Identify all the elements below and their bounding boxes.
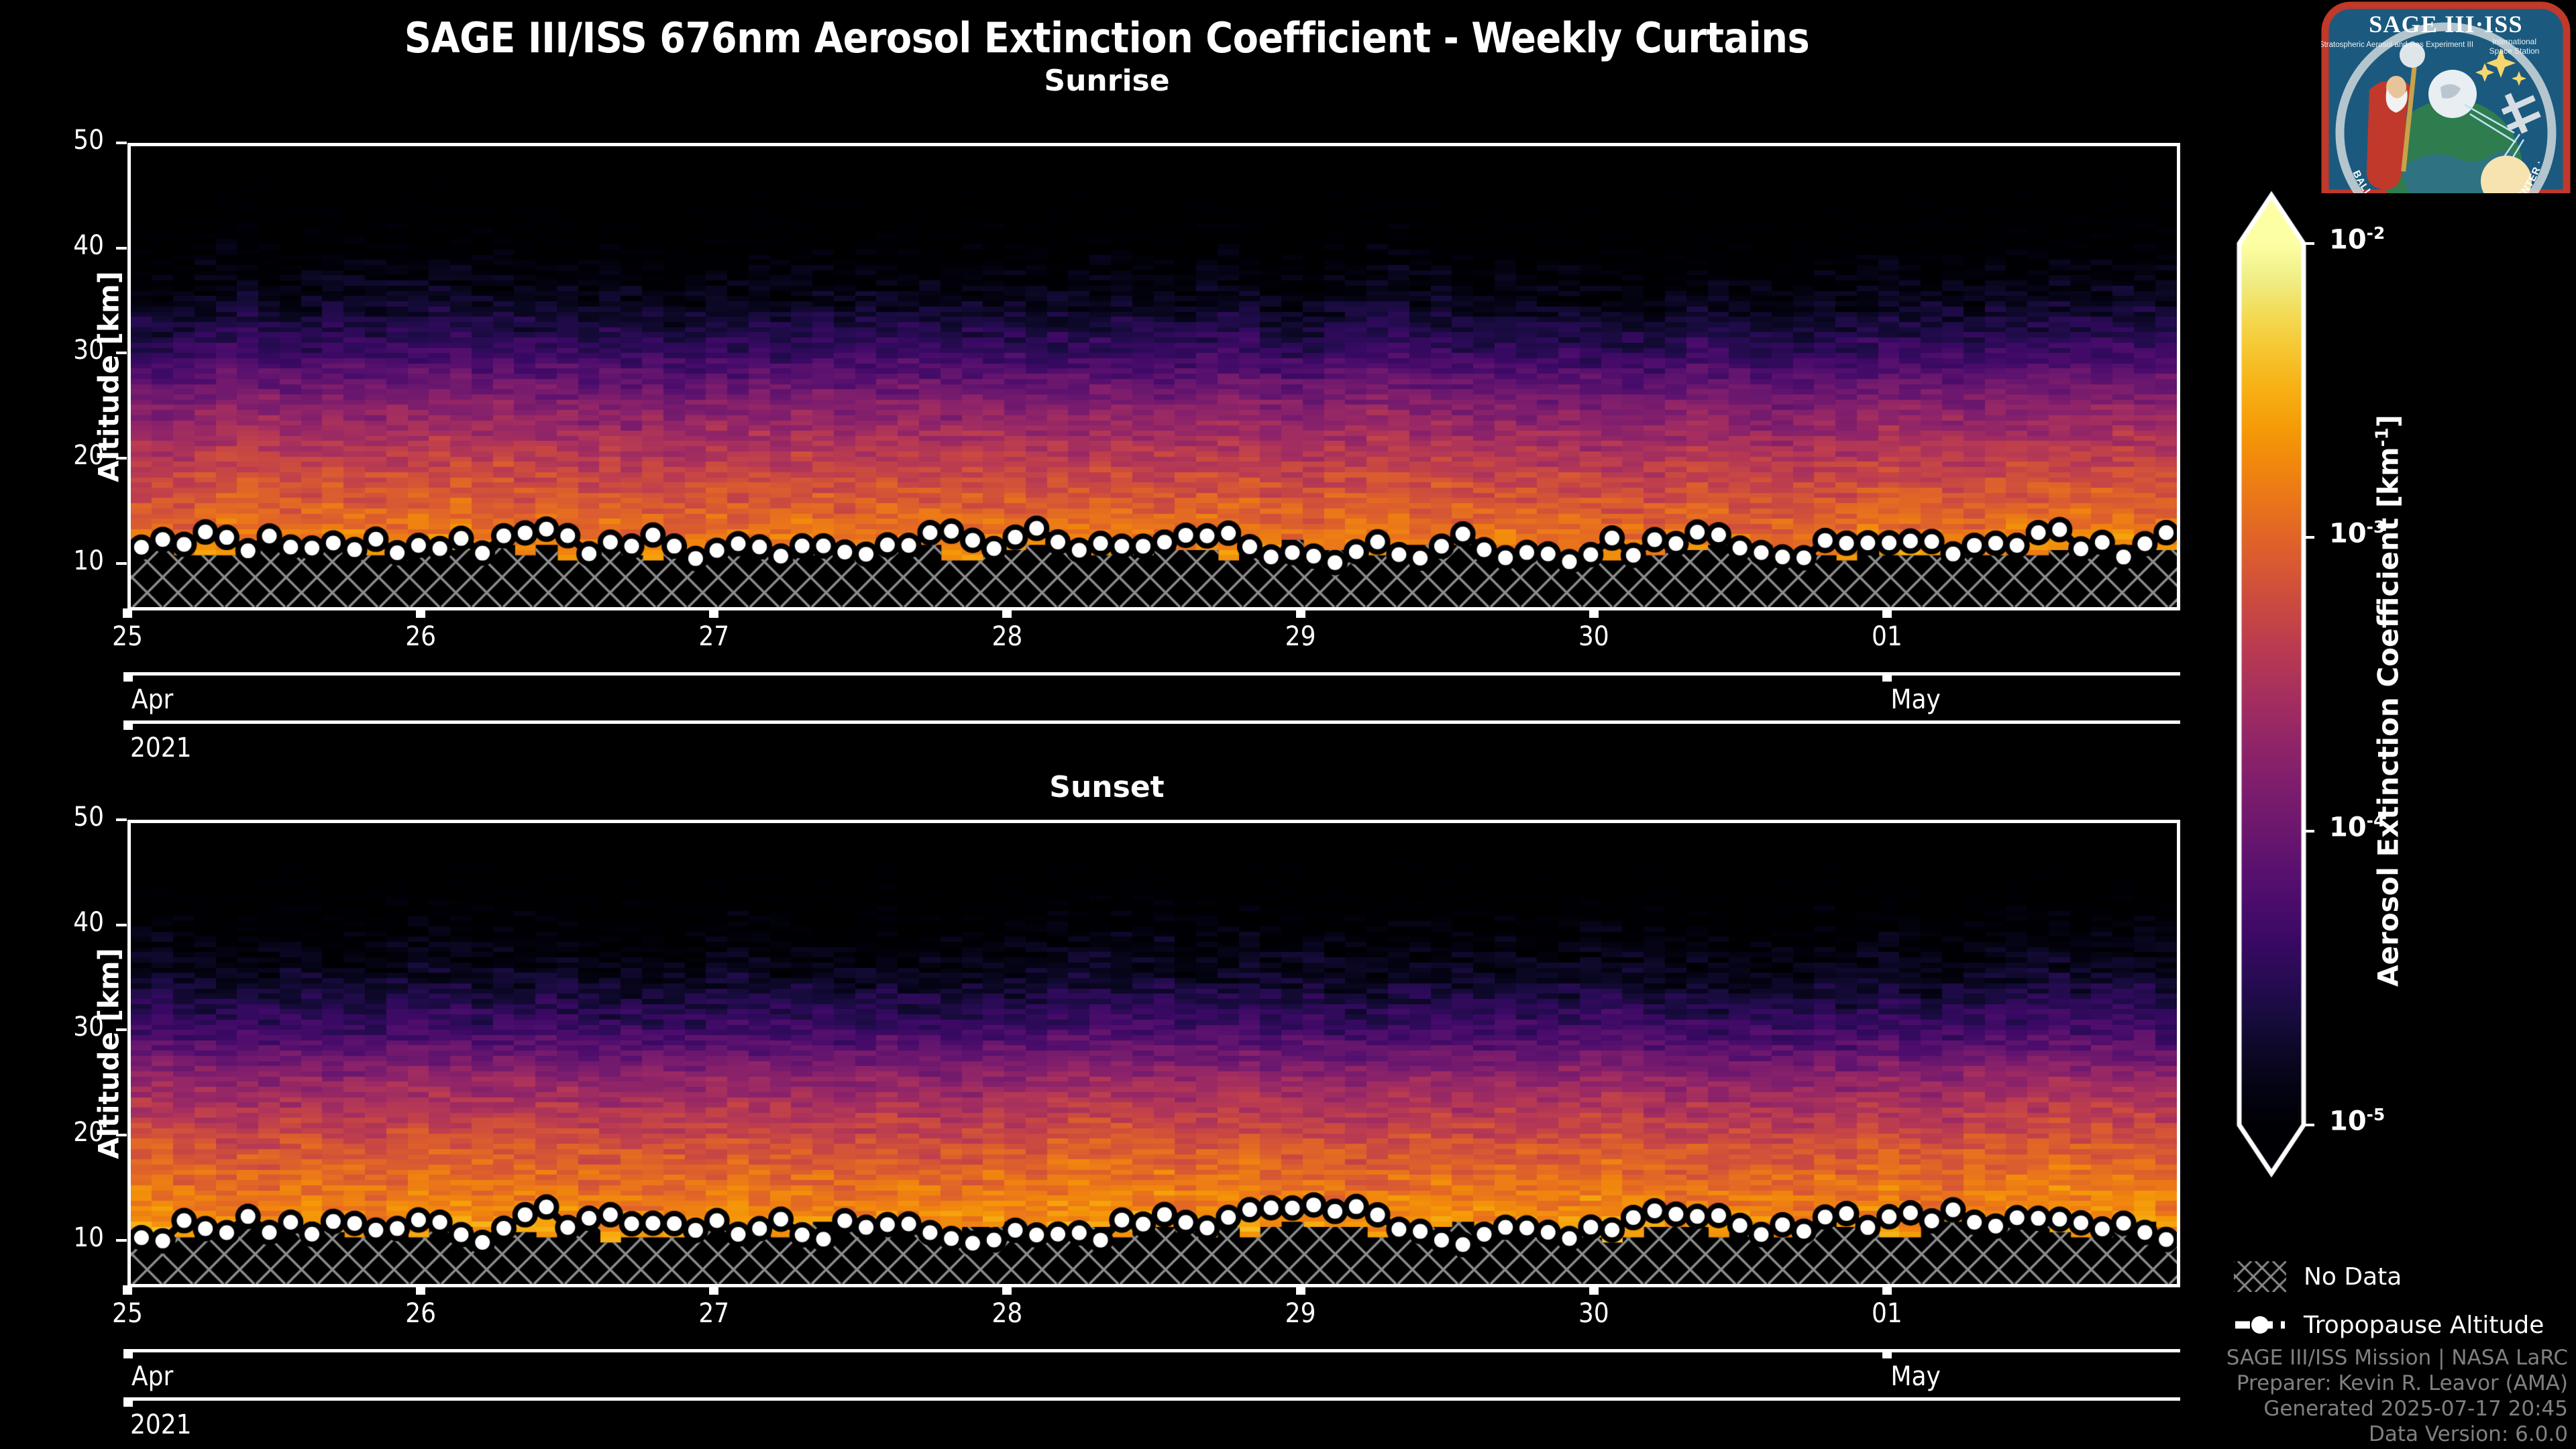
x-axis-year-band-line [127, 1397, 2180, 1401]
x-axis-month-label: May [1890, 684, 1940, 715]
x-axis-month-band-line [127, 1349, 2180, 1352]
month-band-tick [1882, 1349, 1892, 1358]
page-title: SAGE III/ISS 676nm Aerosol Extinction Co… [0, 13, 2214, 62]
x-tick-mark [416, 1285, 425, 1295]
x-tick-label-day: 29 [1247, 621, 1354, 652]
x-tick-label-day: 25 [74, 621, 181, 652]
y-tick-mark [116, 924, 127, 926]
footer-line-2: Preparer: Kevin R. Leavor (AMA) [2226, 1371, 2568, 1396]
y-tick-label: 10 [37, 1222, 104, 1253]
x-tick-mark [123, 608, 132, 618]
x-tick-mark [709, 608, 718, 618]
svg-text:International: International [2492, 37, 2536, 46]
footer-line-4: Data Version: 6.0.0 [2226, 1421, 2568, 1447]
y-tick-label: 40 [37, 907, 104, 938]
y-tick-mark [116, 1028, 127, 1031]
colorbar-tick-mark [2302, 536, 2314, 539]
x-axis-year-band-line [127, 720, 2180, 724]
x-axis-year-label: 2021 [130, 1409, 192, 1440]
footer-line-1: SAGE III/ISS Mission | NASA LaRC [2226, 1345, 2568, 1371]
x-tick-label-day: 28 [953, 621, 1061, 652]
x-tick-label-day: 27 [660, 1298, 767, 1329]
y-tick-label: 20 [37, 440, 104, 471]
svg-text:Space Station: Space Station [2489, 46, 2540, 56]
x-tick-label-day: 29 [1247, 1298, 1354, 1329]
colorbar-gradient [2234, 191, 2314, 1177]
sage3-iss-mission-patch-logo: SAGE III·ISS Stratospheric Aerosol and G… [2321, 1, 2571, 193]
x-axis-month-label: May [1890, 1361, 1940, 1392]
x-tick-label-day: 26 [367, 621, 474, 652]
y-tick-mark [116, 1134, 127, 1136]
y-tick-mark [116, 457, 127, 460]
footer-line-3: Generated 2025-07-17 20:45 [2226, 1396, 2568, 1421]
y-tick-label: 10 [37, 545, 104, 576]
month-band-tick [123, 672, 133, 682]
x-tick-mark [1882, 608, 1892, 618]
x-axis-month-band-line [127, 672, 2180, 676]
year-band-tick [123, 1397, 133, 1407]
panel-title-sunset: Sunset [0, 770, 2214, 804]
colorbar-tick-label: 10-5 [2329, 1105, 2385, 1136]
y-tick-mark [116, 818, 127, 821]
y-tick-label: 20 [37, 1117, 104, 1148]
y-tick-mark [116, 1239, 127, 1242]
svg-text:Stratospheric Aerosol and Gas: Stratospheric Aerosol and Gas Experiment… [2321, 41, 2473, 49]
curtain-plot-sunset[interactable] [127, 820, 2180, 1287]
year-band-tick [123, 720, 133, 730]
x-axis-month-label: Apr [131, 1361, 173, 1392]
colorbar-tick-mark [2302, 242, 2314, 245]
y-tick-label: 40 [37, 230, 104, 261]
x-tick-mark [1002, 1285, 1012, 1295]
y-tick-mark [116, 247, 127, 250]
legend-item-tropopause[interactable]: Tropopause Altitude [2234, 1309, 2544, 1340]
legend-label-tropopause: Tropopause Altitude [2304, 1311, 2544, 1339]
x-axis-year-label: 2021 [130, 733, 192, 763]
curtain-canvas-sunset [131, 823, 2177, 1284]
curtain-canvas-sunrise [131, 146, 2177, 607]
x-tick-label-day: 28 [953, 1298, 1061, 1329]
x-tick-label-day: 25 [74, 1298, 181, 1329]
svg-text:SAGE III·ISS: SAGE III·ISS [2369, 11, 2523, 38]
x-tick-mark [709, 1285, 718, 1295]
y-tick-mark [116, 562, 127, 565]
colorbar-tick-label: 10-2 [2329, 223, 2385, 255]
x-tick-mark [1589, 608, 1599, 618]
no-data-hatch-icon [2234, 1261, 2286, 1292]
x-tick-mark [123, 1285, 132, 1295]
x-tick-label-day: 30 [1540, 1298, 1648, 1329]
x-tick-mark [1882, 1285, 1892, 1295]
legend-item-no-data[interactable]: No Data [2234, 1261, 2402, 1292]
y-tick-label: 30 [37, 335, 104, 366]
y-tick-label: 30 [37, 1012, 104, 1042]
month-band-tick [1882, 672, 1892, 682]
y-tick-label: 50 [37, 802, 104, 833]
tropopause-marker-icon [2234, 1309, 2286, 1340]
colorbar-tick-mark [2302, 830, 2314, 833]
x-tick-label-day: 30 [1540, 621, 1648, 652]
x-tick-label-day: 01 [1833, 621, 1941, 652]
y-tick-mark [116, 142, 127, 144]
x-tick-mark [1002, 608, 1012, 618]
colorbar-tick-mark [2302, 1124, 2314, 1126]
colorbar[interactable] [2234, 191, 2314, 1177]
x-tick-mark [416, 608, 425, 618]
colorbar-axis-label: Aerosol Extinction Coefficient [km-1] [2372, 415, 2405, 987]
panel-title-sunrise: Sunrise [0, 64, 2214, 98]
y-tick-label: 50 [37, 125, 104, 156]
x-tick-mark [1589, 1285, 1599, 1295]
y-tick-mark [116, 352, 127, 354]
x-tick-label-day: 26 [367, 1298, 474, 1329]
x-tick-mark [1296, 608, 1305, 618]
x-tick-mark [1296, 1285, 1305, 1295]
month-band-tick [123, 1349, 133, 1358]
x-tick-label-day: 27 [660, 621, 767, 652]
legend-label-no-data: No Data [2304, 1263, 2402, 1291]
footer-credits: SAGE III/ISS Mission | NASA LaRC Prepare… [2226, 1345, 2568, 1448]
x-axis-month-label: Apr [131, 684, 173, 715]
x-tick-label-day: 01 [1833, 1298, 1941, 1329]
curtain-plot-sunrise[interactable] [127, 143, 2180, 610]
